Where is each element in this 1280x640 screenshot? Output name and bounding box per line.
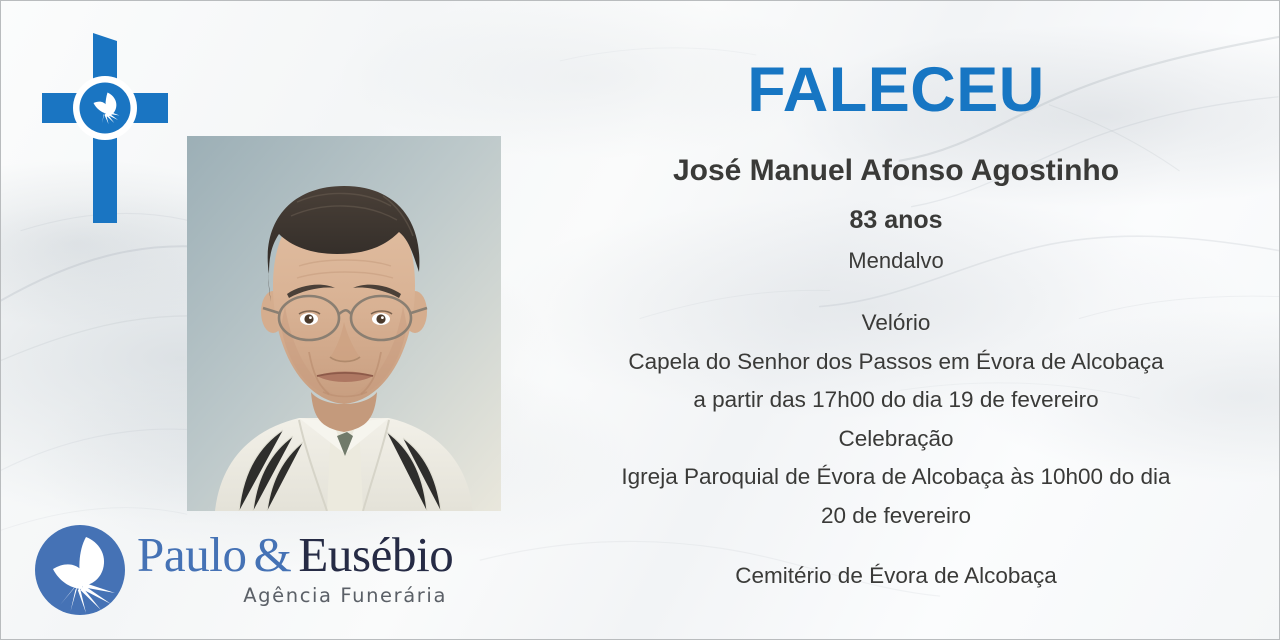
obituary-card: Paulo&Eusébio Agência Funerária FALECEU … — [0, 0, 1280, 640]
agency-logo-text: Paulo&Eusébio Agência Funerária — [137, 527, 449, 607]
agency-name-second: Eusébio — [298, 527, 453, 582]
detail-line: Velório — [521, 304, 1271, 343]
cross-medallion — [73, 76, 137, 140]
agency-name-ampersand: & — [254, 527, 292, 582]
detail-line: Capela do Senhor dos Passos em Évora de … — [521, 343, 1271, 382]
burial-location: Cemitério de Évora de Alcobaça — [521, 561, 1271, 591]
agency-subtitle: Agência Funerária — [137, 584, 449, 607]
agency-name-first: Paulo — [137, 527, 247, 582]
deceased-portrait-photo — [187, 136, 501, 511]
deceased-age: 83 anos — [521, 206, 1271, 235]
deceased-place: Mendalvo — [521, 248, 1271, 274]
cross-emblem — [35, 31, 185, 236]
agency-name: Paulo&Eusébio — [137, 527, 449, 583]
butterfly-circle-logo-icon — [31, 521, 129, 619]
christian-cross-icon — [35, 31, 185, 236]
ceremony-details: Velório Capela do Senhor dos Passos em É… — [521, 304, 1271, 535]
page-title: FALECEU — [521, 57, 1271, 123]
agency-logo[interactable]: Paulo&Eusébio Agência Funerária — [31, 519, 451, 624]
detail-line: Celebração — [521, 420, 1271, 459]
detail-line: 20 de fevereiro — [521, 497, 1271, 536]
deceased-portrait — [187, 136, 501, 511]
deceased-name: José Manuel Afonso Agostinho — [521, 153, 1271, 189]
detail-line: Igreja Paroquial de Évora de Alcobaça às… — [521, 458, 1271, 497]
announcement-content: FALECEU José Manuel Afonso Agostinho 83 … — [521, 1, 1271, 640]
detail-line: a partir das 17h00 do dia 19 de fevereir… — [521, 381, 1271, 420]
